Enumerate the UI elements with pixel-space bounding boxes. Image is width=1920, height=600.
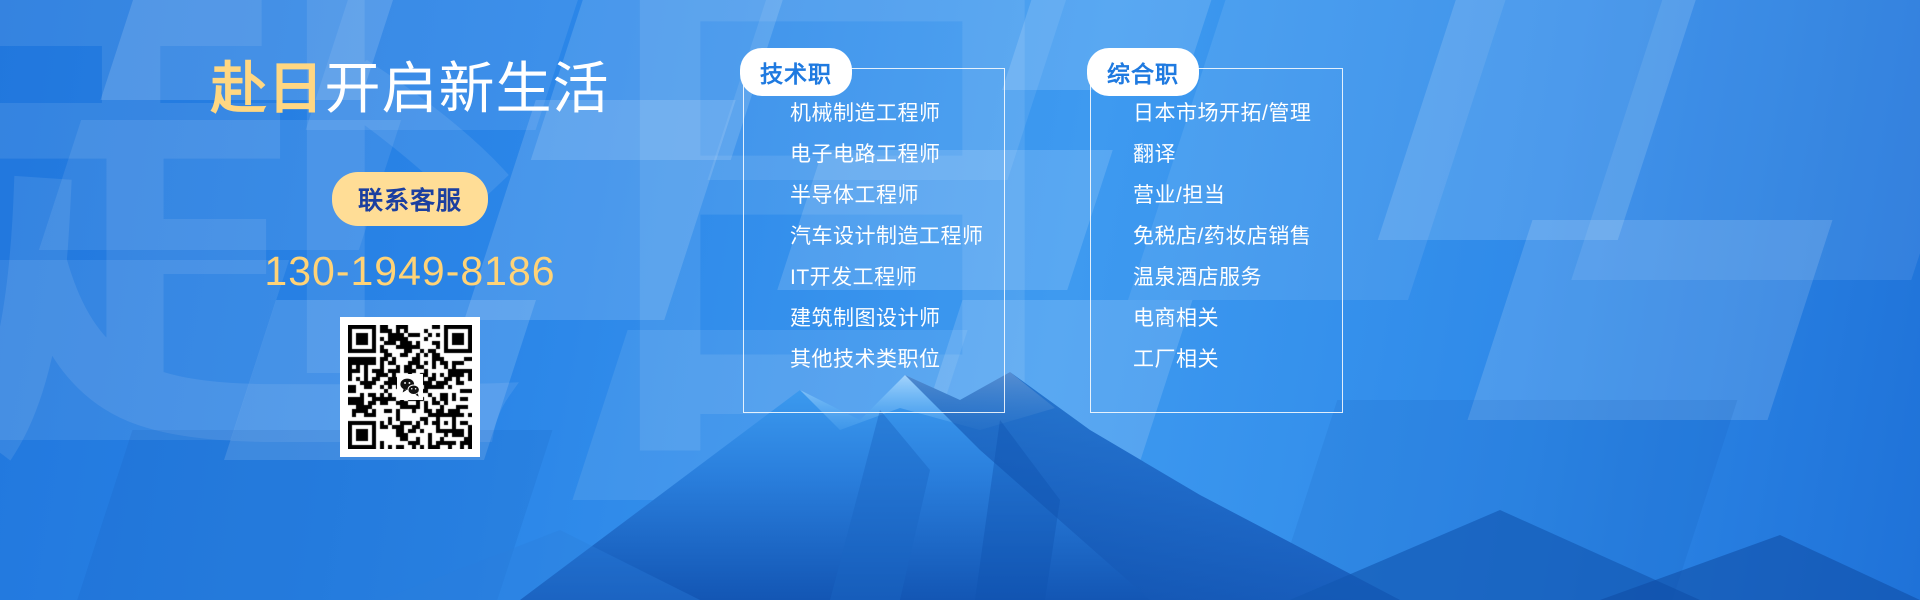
list-item[interactable]: 免税店/药妆店销售 <box>1117 226 1316 267</box>
list-item[interactable]: 日本市场开拓/管理 <box>1117 103 1316 144</box>
headline-accent: 赴日 <box>211 57 325 120</box>
job-panel-general-badge: 综合职 <box>1087 48 1199 96</box>
job-panel-tech-badge: 技术职 <box>740 48 852 96</box>
list-item[interactable]: 温泉酒店服务 <box>1117 267 1316 308</box>
list-item[interactable]: 工厂相关 <box>1117 349 1316 390</box>
contact-column: 赴日开启新生活 联系客服 130-1949-8186 <box>150 40 670 540</box>
list-item[interactable]: 机械制造工程师 <box>770 103 978 144</box>
job-list-general: 日本市场开拓/管理 翻译 营业/担当 免税店/药妆店销售 温泉酒店服务 电商相关… <box>1117 103 1316 390</box>
job-list-tech: 机械制造工程师 电子电路工程师 半导体工程师 汽车设计制造工程师 IT开发工程师… <box>770 103 978 390</box>
wechat-qr-code[interactable] <box>340 317 480 457</box>
deco-parallelogram <box>1571 0 1920 280</box>
list-item[interactable]: 汽车设计制造工程师 <box>770 226 978 267</box>
list-item[interactable]: 半导体工程师 <box>770 185 978 226</box>
phone-number: 130-1949-8186 <box>264 248 555 295</box>
list-item[interactable]: 其他技术类职位 <box>770 349 978 390</box>
list-item[interactable]: 电子电路工程师 <box>770 144 978 185</box>
wechat-icon <box>397 374 423 400</box>
list-item[interactable]: 营业/担当 <box>1117 185 1316 226</box>
list-item[interactable]: 建筑制图设计师 <box>770 308 978 349</box>
page-title: 赴日开启新生活 <box>211 58 610 120</box>
job-panel-general: 综合职 日本市场开拓/管理 翻译 营业/担当 免税店/药妆店销售 温泉酒店服务 … <box>1090 68 1343 413</box>
headline-plain: 开启新生活 <box>325 57 610 120</box>
job-panel-tech: 技术职 机械制造工程师 电子电路工程师 半导体工程师 汽车设计制造工程师 IT开… <box>743 68 1005 413</box>
wechat-glyph <box>399 376 421 398</box>
list-item[interactable]: 翻译 <box>1117 144 1316 185</box>
list-item[interactable]: 电商相关 <box>1117 308 1316 349</box>
deco-parallelogram <box>1378 0 1702 240</box>
list-item[interactable]: IT开发工程师 <box>770 267 978 308</box>
contact-support-button[interactable]: 联系客服 <box>332 172 488 226</box>
promo-banner: 赴日 <box>0 0 1920 600</box>
